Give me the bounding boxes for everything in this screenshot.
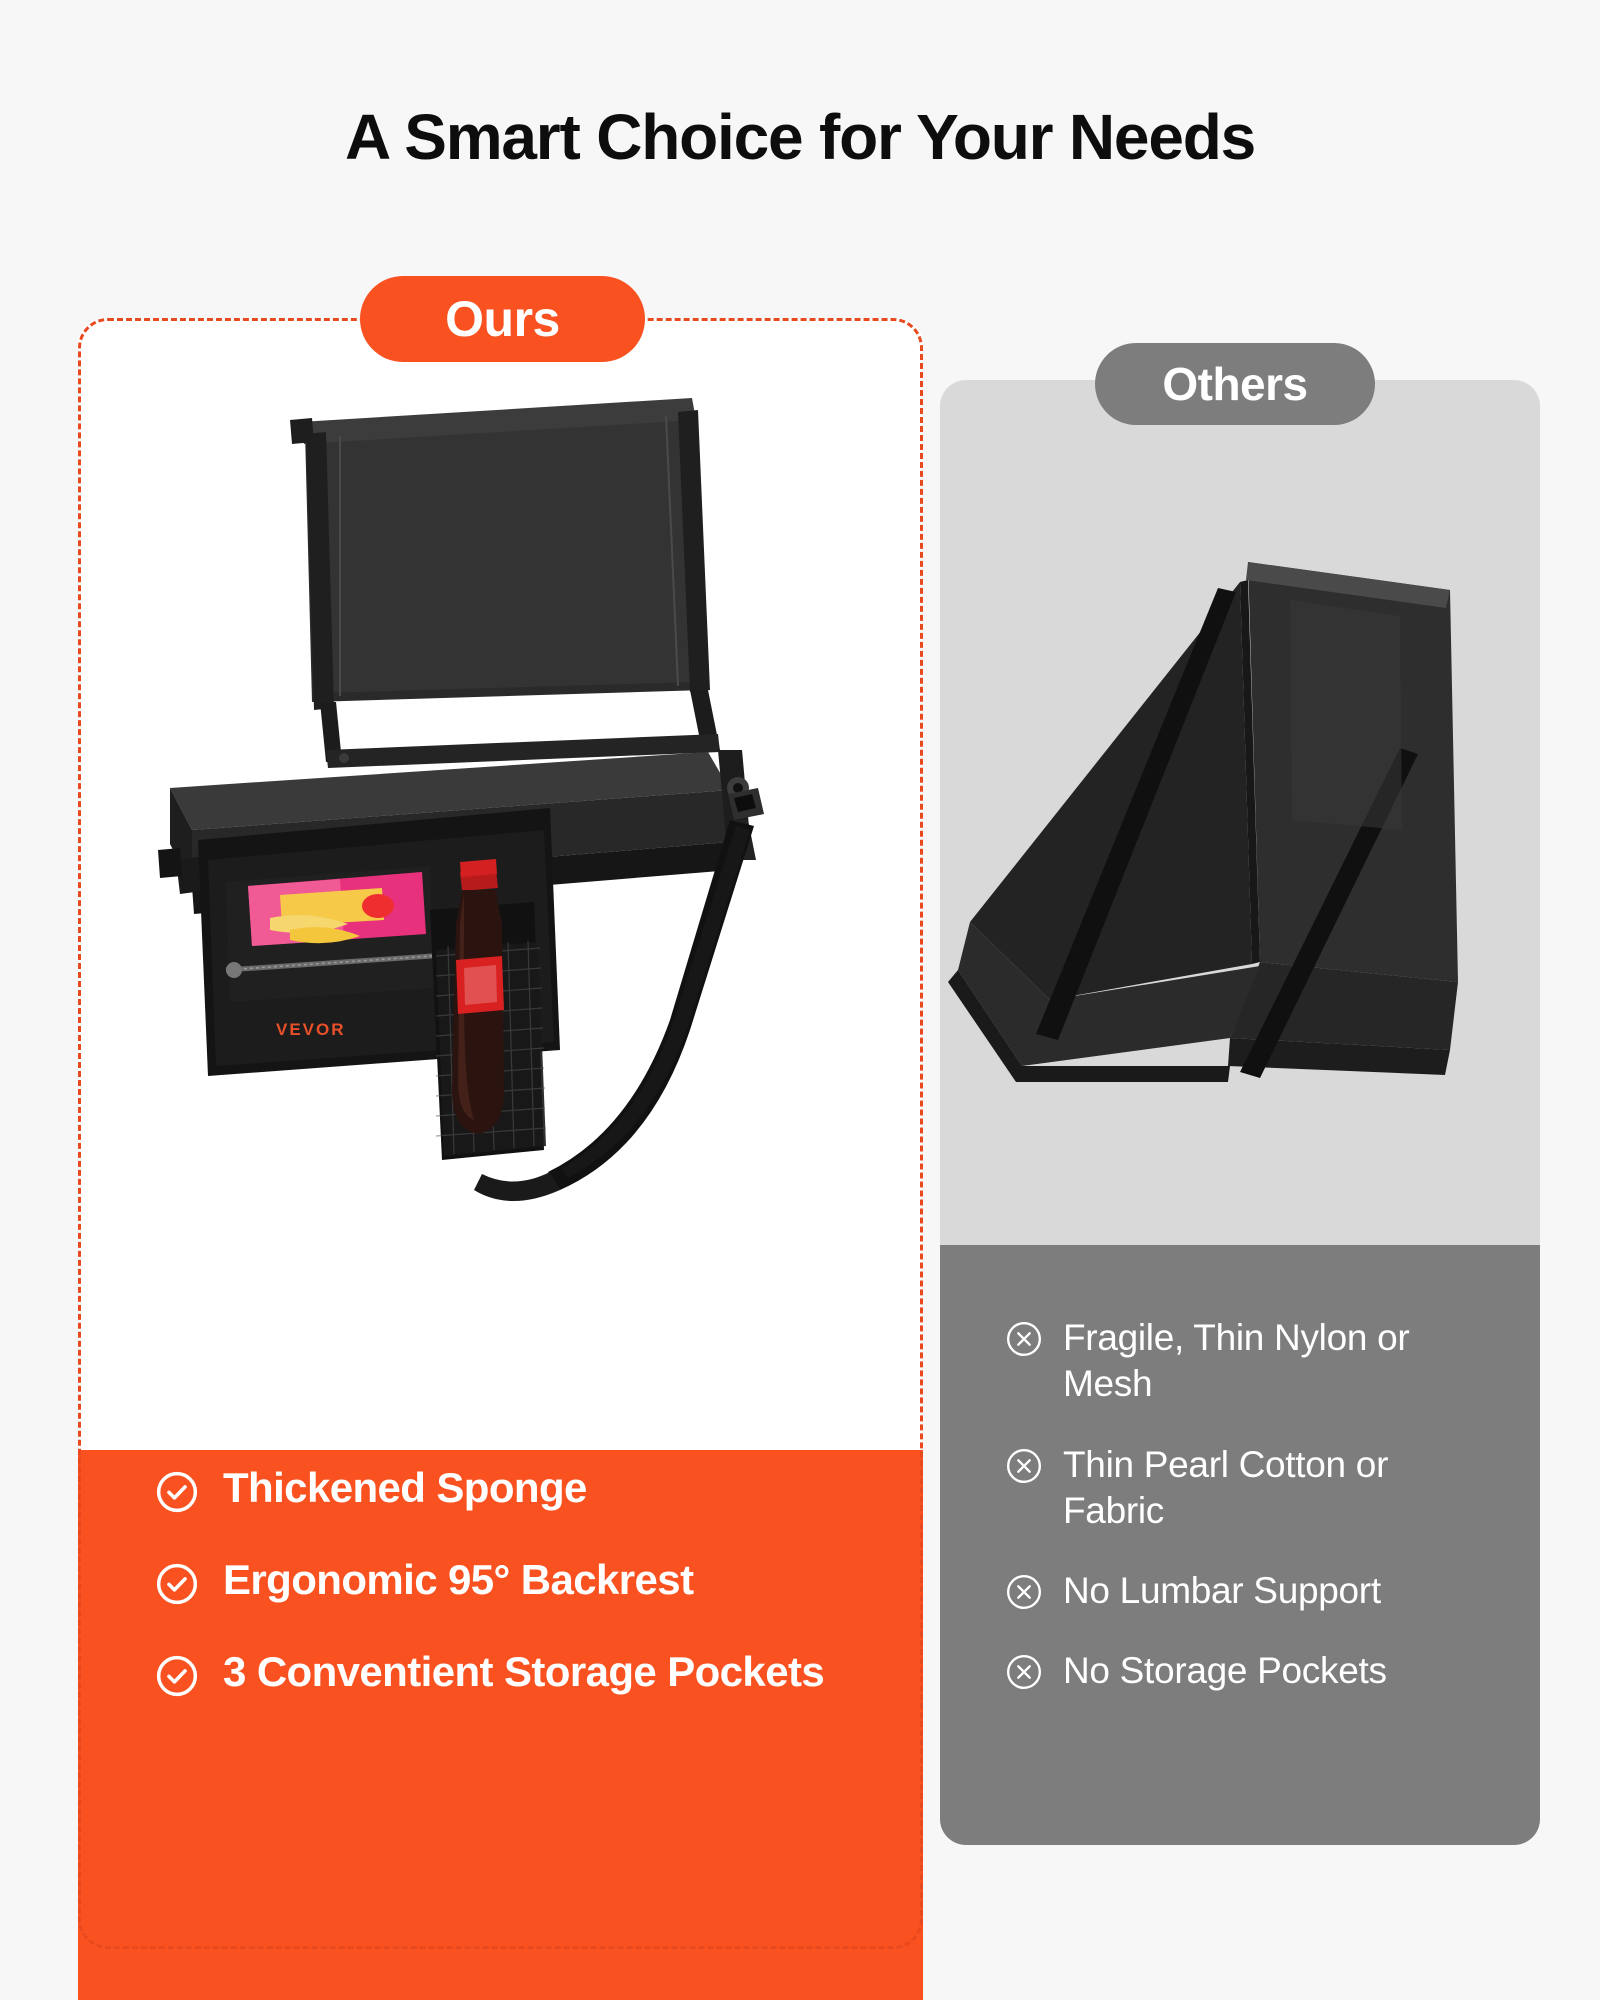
x-circle-icon: [1005, 1573, 1043, 1611]
list-item-label: No Storage Pockets: [1063, 1648, 1387, 1694]
badge-ours: Ours: [360, 276, 645, 362]
check-circle-icon: [155, 1654, 199, 1698]
list-item: Fragile, Thin Nylon or Mesh: [1005, 1315, 1495, 1408]
list-item-label: Fragile, Thin Nylon or Mesh: [1063, 1315, 1495, 1408]
list-item: Thickened Sponge: [155, 1462, 835, 1514]
brand-logo-text: VEVOR: [276, 1020, 346, 1039]
check-circle-icon: [155, 1470, 199, 1514]
list-item-label: Durable & Stain-Resistant Oxford Fabric: [223, 1320, 835, 1422]
ours-product-image: VEVOR: [130, 390, 870, 1230]
comparison-infographic: A Smart Choice for Your Needs Others: [0, 0, 1600, 2000]
check-circle-icon: [155, 1562, 199, 1606]
list-item: Durable & Stain-Resistant Oxford Fabric: [155, 1320, 835, 1422]
list-item: 3 Conventient Storage Pockets: [155, 1646, 835, 1698]
list-item-label: 3 Conventient Storage Pockets: [223, 1646, 824, 1697]
list-item: Thin Pearl Cotton or Fabric: [1005, 1442, 1495, 1535]
list-item: No Storage Pockets: [1005, 1648, 1495, 1694]
x-circle-icon: [1005, 1447, 1043, 1485]
list-item-label: No Lumbar Support: [1063, 1568, 1381, 1614]
page-title: A Smart Choice for Your Needs: [0, 100, 1600, 174]
x-circle-icon: [1005, 1320, 1043, 1358]
others-feature-list: Fragile, Thin Nylon or Mesh Thin Pearl C…: [1005, 1315, 1495, 1695]
check-circle-icon: [155, 1328, 199, 1372]
ours-feature-list: Durable & Stain-Resistant Oxford Fabric …: [155, 1320, 835, 1698]
others-product-image: [930, 530, 1490, 1090]
list-item: Ergonomic 95° Backrest: [155, 1554, 835, 1606]
list-item-label: Thin Pearl Cotton or Fabric: [1063, 1442, 1495, 1535]
list-item-label: Thickened Sponge: [223, 1462, 587, 1513]
badge-others: Others: [1095, 343, 1375, 425]
list-item-label: Ergonomic 95° Backrest: [223, 1554, 693, 1605]
x-circle-icon: [1005, 1653, 1043, 1691]
list-item: No Lumbar Support: [1005, 1568, 1495, 1614]
